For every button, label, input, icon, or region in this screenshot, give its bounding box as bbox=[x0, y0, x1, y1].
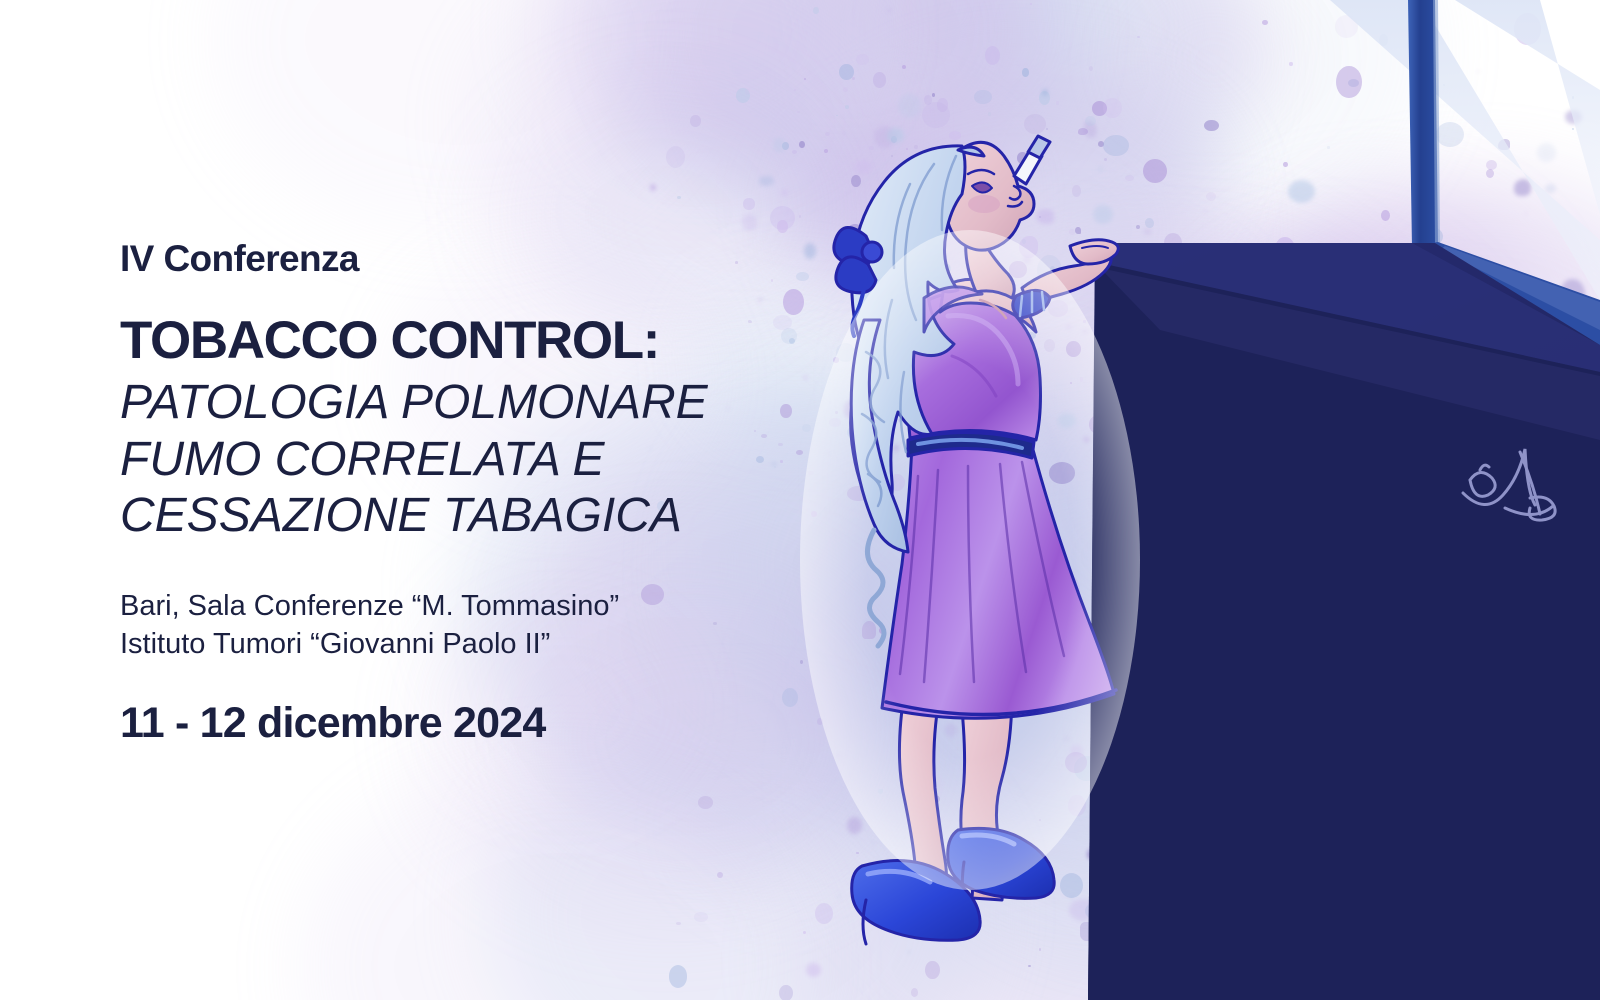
paint-dot bbox=[742, 214, 757, 231]
venue-line-2: Istituto Tumori “Giovanni Paolo II” bbox=[120, 625, 760, 663]
paint-dot bbox=[778, 443, 783, 446]
paint-dot bbox=[952, 378, 956, 381]
paint-dot bbox=[916, 375, 920, 378]
paint-dot bbox=[855, 160, 872, 174]
paint-dot bbox=[1388, 625, 1390, 627]
paint-dot bbox=[1069, 899, 1097, 920]
paint-dot bbox=[1083, 320, 1086, 322]
paint-dot bbox=[1006, 195, 1008, 197]
paint-dot bbox=[1486, 169, 1494, 178]
paint-dot bbox=[694, 912, 707, 922]
paint-dot bbox=[799, 141, 805, 149]
paint-dot bbox=[852, 391, 861, 398]
paint-dot bbox=[1225, 769, 1228, 772]
paint-dot bbox=[1138, 721, 1141, 724]
paint-dot bbox=[1335, 15, 1358, 38]
paint-dot bbox=[1477, 810, 1488, 818]
paint-dot bbox=[1037, 255, 1062, 286]
paint-dot bbox=[1158, 931, 1161, 934]
paint-dot bbox=[1151, 372, 1154, 375]
paint-dot bbox=[1164, 233, 1182, 253]
paint-dot bbox=[1408, 389, 1418, 398]
conference-edition-label: IV Conferenza bbox=[120, 240, 760, 279]
paint-dot bbox=[1270, 648, 1273, 651]
paint-dot bbox=[1527, 625, 1539, 635]
paint-dot bbox=[1445, 838, 1453, 846]
paint-dot bbox=[906, 148, 909, 150]
paint-dot bbox=[1304, 820, 1319, 835]
paint-dot bbox=[1154, 765, 1157, 767]
paint-dot bbox=[1333, 835, 1358, 862]
paint-dot bbox=[1525, 212, 1527, 215]
paint-dot bbox=[1315, 512, 1318, 515]
paint-dot bbox=[1561, 775, 1574, 784]
paint-dot bbox=[1104, 687, 1115, 696]
paint-dot bbox=[949, 131, 961, 140]
paint-dot bbox=[1315, 683, 1329, 696]
paint-dot bbox=[1565, 110, 1582, 124]
paint-dot bbox=[891, 155, 893, 157]
paint-dot bbox=[1093, 205, 1113, 224]
paint-dot bbox=[1207, 646, 1217, 654]
paint-dot bbox=[930, 795, 940, 803]
paint-dot bbox=[1119, 128, 1121, 130]
paint-dot bbox=[1251, 910, 1276, 940]
paint-dot bbox=[1039, 819, 1041, 821]
paint-dot bbox=[1100, 240, 1115, 255]
paint-dot bbox=[1480, 356, 1493, 368]
paint-dot bbox=[952, 178, 955, 181]
paint-dot bbox=[1262, 497, 1264, 499]
paint-dot bbox=[937, 263, 951, 273]
paint-dot bbox=[856, 852, 858, 855]
paint-dot bbox=[773, 138, 785, 153]
paint-dot bbox=[984, 755, 992, 762]
paint-dot bbox=[1358, 310, 1360, 312]
paint-dot bbox=[781, 328, 797, 344]
paint-dot bbox=[1070, 613, 1076, 620]
paint-dot bbox=[1027, 332, 1036, 339]
paint-dot bbox=[1310, 319, 1316, 324]
paint-dot bbox=[1323, 706, 1348, 724]
paint-dot bbox=[1288, 180, 1315, 203]
paint-dot bbox=[1434, 804, 1452, 818]
paint-dot bbox=[971, 201, 990, 224]
paint-dot bbox=[862, 621, 876, 638]
paint-dot bbox=[1404, 648, 1414, 655]
paint-dot bbox=[1225, 602, 1227, 604]
paint-dot bbox=[1271, 509, 1279, 518]
paint-dot bbox=[1358, 909, 1363, 913]
paint-dot bbox=[1158, 419, 1168, 429]
paint-dot bbox=[783, 289, 804, 316]
poster-text-column: IV Conferenza TOBACCO CONTROL: PATOLOGIA… bbox=[120, 240, 760, 748]
paint-dot bbox=[1066, 325, 1071, 329]
paint-dot bbox=[1210, 881, 1214, 885]
paint-dot bbox=[1180, 934, 1200, 955]
paint-dot bbox=[1413, 356, 1420, 362]
paint-dot bbox=[1277, 852, 1287, 860]
paint-dot bbox=[1436, 122, 1464, 147]
paint-dot bbox=[979, 630, 987, 636]
paint-dot bbox=[1084, 437, 1089, 442]
paint-dot bbox=[1262, 20, 1268, 25]
paint-dot bbox=[1495, 591, 1504, 600]
paint-dot bbox=[888, 9, 890, 12]
paint-dot bbox=[825, 132, 830, 136]
paint-dot bbox=[1228, 623, 1243, 635]
paint-dot bbox=[945, 723, 957, 737]
paint-dot bbox=[1328, 366, 1336, 374]
paint-dot bbox=[1019, 461, 1023, 465]
paint-dot bbox=[1502, 480, 1518, 497]
paint-dot bbox=[1269, 966, 1290, 990]
paint-dot bbox=[1360, 569, 1373, 584]
paint-dot bbox=[1199, 657, 1215, 668]
paint-dot bbox=[1103, 834, 1114, 843]
paint-dot bbox=[1434, 762, 1438, 766]
paint-dot bbox=[804, 243, 816, 259]
paint-dot bbox=[1498, 139, 1510, 150]
paint-dot bbox=[933, 247, 936, 249]
paint-dot bbox=[1147, 860, 1159, 869]
paint-dot bbox=[1204, 120, 1219, 131]
paint-dot bbox=[1364, 876, 1382, 898]
paint-dot bbox=[873, 368, 876, 371]
paint-dot bbox=[1283, 162, 1287, 167]
paint-dot bbox=[836, 754, 840, 757]
paint-dot bbox=[1367, 979, 1369, 981]
paint-dot bbox=[1208, 589, 1214, 595]
paint-dot bbox=[1263, 476, 1265, 478]
paint-dot bbox=[1190, 957, 1194, 960]
paint-dot bbox=[1305, 377, 1321, 395]
paint-dot bbox=[1377, 869, 1389, 878]
paint-dot bbox=[1002, 308, 1006, 312]
paint-dot bbox=[937, 571, 940, 573]
paint-dot bbox=[780, 460, 783, 463]
paint-dot bbox=[1019, 236, 1039, 258]
paint-dot bbox=[1352, 878, 1363, 889]
paint-dot bbox=[1507, 503, 1511, 507]
paint-dot bbox=[1048, 300, 1069, 317]
paint-dot bbox=[1219, 842, 1223, 846]
paint-dot bbox=[1234, 614, 1237, 617]
paint-dot bbox=[1121, 398, 1123, 400]
paint-dot bbox=[870, 473, 894, 499]
paint-dot bbox=[1145, 218, 1154, 228]
paint-dot bbox=[781, 189, 788, 197]
paint-dot bbox=[779, 985, 793, 1000]
paint-dot bbox=[1379, 34, 1388, 46]
paint-dot bbox=[1418, 691, 1421, 693]
paint-dot bbox=[1394, 842, 1418, 873]
paint-dot bbox=[999, 386, 1002, 389]
paint-dot bbox=[1559, 869, 1561, 872]
paint-dot bbox=[1142, 976, 1162, 998]
paint-dot bbox=[1109, 478, 1111, 481]
paint-dot bbox=[868, 459, 872, 463]
paint-dot bbox=[817, 718, 823, 726]
paint-dot bbox=[1179, 924, 1181, 926]
paint-dot bbox=[676, 922, 681, 926]
paint-dot bbox=[843, 133, 845, 135]
paint-dot bbox=[1050, 550, 1063, 562]
paint-dot bbox=[1219, 581, 1233, 596]
paint-dot bbox=[1242, 597, 1246, 601]
paint-dot bbox=[1514, 179, 1531, 195]
paint-dot bbox=[1124, 632, 1141, 645]
paint-dot bbox=[1220, 741, 1234, 752]
paint-dot bbox=[879, 627, 886, 634]
paint-dot bbox=[852, 358, 869, 370]
paint-dot bbox=[1361, 734, 1372, 742]
paint-dot bbox=[897, 179, 900, 181]
paint-dot bbox=[1429, 615, 1447, 632]
paint-dot bbox=[1442, 700, 1455, 716]
paint-dot bbox=[878, 789, 883, 794]
paint-dot bbox=[1151, 461, 1166, 476]
paint-dot bbox=[874, 401, 891, 418]
paint-dot bbox=[1065, 667, 1080, 680]
paint-dot bbox=[1104, 158, 1107, 161]
paint-dot bbox=[1217, 425, 1226, 435]
paint-dot bbox=[838, 895, 840, 897]
paint-dot bbox=[1457, 292, 1463, 298]
paint-dot bbox=[996, 602, 998, 604]
paint-dot bbox=[1285, 644, 1289, 648]
paint-dot bbox=[856, 54, 868, 65]
paint-dot bbox=[1573, 506, 1575, 508]
paint-dot bbox=[1044, 339, 1055, 352]
paint-dot bbox=[994, 630, 998, 634]
paint-dot bbox=[1196, 927, 1201, 933]
paint-dot bbox=[1477, 71, 1479, 72]
paint-dot bbox=[969, 534, 975, 541]
paint-dot bbox=[836, 115, 838, 116]
paint-dot bbox=[963, 240, 975, 254]
paint-dot bbox=[1098, 167, 1103, 171]
paint-dot bbox=[1532, 890, 1558, 921]
paint-dot bbox=[942, 624, 957, 636]
paint-dot bbox=[1528, 344, 1531, 348]
paint-dot bbox=[1100, 703, 1112, 718]
paint-dot bbox=[690, 115, 700, 127]
paint-dot bbox=[743, 198, 755, 209]
paint-dot bbox=[1195, 515, 1202, 520]
paint-dot bbox=[1136, 225, 1140, 229]
paint-dot bbox=[1049, 462, 1074, 483]
paint-dot bbox=[997, 400, 1016, 417]
paint-dot bbox=[916, 440, 919, 443]
paint-dot bbox=[1013, 412, 1032, 433]
paint-dot bbox=[937, 312, 949, 321]
paint-dot bbox=[1355, 867, 1359, 872]
paint-dot bbox=[1143, 159, 1167, 183]
paint-dot bbox=[1296, 924, 1298, 926]
paint-dot bbox=[1051, 395, 1053, 397]
conference-poster: IV Conferenza TOBACCO CONTROL: PATOLOGIA… bbox=[0, 0, 1600, 1000]
paint-dot bbox=[1321, 919, 1327, 925]
paint-dot bbox=[1456, 641, 1458, 643]
paint-dot bbox=[1168, 779, 1178, 787]
paint-dot bbox=[1083, 330, 1086, 333]
paint-dot bbox=[852, 77, 855, 80]
paint-dot bbox=[1185, 500, 1190, 505]
paint-dot bbox=[1381, 813, 1389, 820]
paint-dot bbox=[1396, 972, 1404, 981]
paint-dot bbox=[1153, 300, 1163, 309]
paint-dot bbox=[1133, 335, 1142, 344]
paint-dot bbox=[1329, 805, 1343, 817]
paint-dot bbox=[1028, 965, 1031, 967]
paint-dot bbox=[794, 89, 796, 91]
paint-dot bbox=[1089, 66, 1093, 72]
paint-dot bbox=[1129, 901, 1143, 913]
paint-dot bbox=[1133, 579, 1148, 590]
paint-dot bbox=[1042, 89, 1047, 96]
paint-dot bbox=[1240, 739, 1258, 760]
paint-dot bbox=[1510, 384, 1528, 402]
paint-dot bbox=[845, 105, 849, 110]
paint-dot bbox=[777, 220, 788, 234]
paint-dot bbox=[1309, 553, 1330, 579]
subtitle-line-3: CESSAZIONE TABAGICA bbox=[120, 488, 760, 545]
paint-dot bbox=[1103, 98, 1122, 118]
paint-dot bbox=[1021, 710, 1024, 714]
paint-dot bbox=[1066, 341, 1081, 358]
paint-dot bbox=[956, 534, 960, 537]
paint-dot bbox=[1070, 382, 1072, 384]
paint-dot bbox=[1324, 746, 1327, 749]
paint-dot bbox=[1157, 668, 1182, 690]
paint-dot bbox=[997, 466, 999, 468]
paint-dot bbox=[886, 180, 888, 183]
paint-dot bbox=[954, 459, 979, 482]
paint-dot bbox=[895, 454, 898, 456]
paint-dot bbox=[916, 693, 930, 704]
paint-dot bbox=[1480, 675, 1490, 684]
paint-dot bbox=[761, 434, 767, 439]
paint-dot bbox=[1520, 838, 1522, 840]
paint-dot bbox=[844, 399, 863, 419]
paint-dot bbox=[1010, 456, 1015, 462]
paint-dot bbox=[872, 842, 874, 844]
paint-dot bbox=[1005, 177, 1010, 181]
paint-dot bbox=[1113, 943, 1117, 947]
paint-dot bbox=[1046, 128, 1048, 130]
paint-dot bbox=[1466, 953, 1471, 958]
paint-dot bbox=[1560, 279, 1584, 309]
paint-dot bbox=[1165, 635, 1168, 639]
paint-dot bbox=[1280, 762, 1285, 766]
paint-dot bbox=[1160, 856, 1170, 865]
paint-dot bbox=[1021, 283, 1023, 285]
paint-dot bbox=[893, 445, 899, 452]
paint-dot bbox=[1509, 444, 1512, 447]
paint-dot bbox=[773, 315, 792, 330]
paint-dot bbox=[1423, 852, 1427, 856]
paint-dot bbox=[1306, 960, 1310, 965]
paint-dot bbox=[1137, 36, 1139, 38]
paint-dot bbox=[813, 7, 819, 15]
paint-dot bbox=[1144, 843, 1148, 846]
paint-dot bbox=[847, 486, 870, 502]
paint-dot bbox=[1572, 128, 1574, 130]
paint-dot bbox=[1030, 3, 1033, 5]
paint-dot bbox=[1422, 780, 1427, 785]
paint-dot bbox=[1221, 608, 1225, 611]
paint-dot bbox=[717, 872, 723, 878]
paint-dot bbox=[1295, 842, 1297, 845]
paint-dot bbox=[806, 963, 821, 977]
paint-dot bbox=[1024, 114, 1046, 134]
paint-dot bbox=[1500, 843, 1528, 871]
paint-dot bbox=[1276, 795, 1280, 800]
paint-dot bbox=[1221, 726, 1223, 728]
paint-dot bbox=[1094, 883, 1096, 886]
subtitle-line-2: FUMO CORRELATA E bbox=[120, 432, 760, 489]
paint-dot bbox=[1336, 66, 1362, 99]
paint-dot bbox=[1335, 884, 1355, 898]
paint-dot bbox=[792, 150, 797, 154]
paint-dot bbox=[985, 46, 1000, 65]
paint-dot bbox=[1453, 584, 1462, 592]
paint-dot bbox=[1201, 817, 1204, 821]
paint-dot bbox=[1122, 974, 1137, 989]
paint-dot bbox=[1080, 377, 1084, 382]
paint-dot bbox=[923, 315, 928, 319]
paint-dot bbox=[1179, 831, 1205, 861]
paint-dot bbox=[650, 184, 656, 191]
paint-dot bbox=[1123, 293, 1144, 309]
paint-dot bbox=[1289, 62, 1292, 65]
paint-dot bbox=[977, 324, 1000, 342]
venue-info: Bari, Sala Conferenze “M. Tommasino”Isti… bbox=[120, 587, 760, 664]
paint-dot bbox=[1017, 432, 1020, 434]
paint-dot bbox=[1471, 646, 1473, 648]
paint-dot bbox=[804, 78, 806, 80]
paint-dot bbox=[1180, 779, 1183, 783]
paint-dot bbox=[1541, 536, 1547, 541]
paint-dot bbox=[1486, 160, 1497, 170]
paint-dot bbox=[902, 65, 906, 69]
paint-dot bbox=[1385, 0, 1387, 2]
paint-dot bbox=[1244, 609, 1255, 622]
paint-dot bbox=[1342, 899, 1344, 901]
paint-dot bbox=[1172, 649, 1194, 666]
paint-dot bbox=[922, 102, 949, 128]
paint-dot bbox=[1145, 821, 1171, 844]
paint-dot bbox=[919, 385, 922, 389]
paint-dot bbox=[797, 111, 799, 113]
paint-dot bbox=[847, 426, 862, 439]
paint-dot bbox=[828, 452, 830, 454]
paint-dot bbox=[1080, 922, 1098, 941]
paint-dot bbox=[917, 202, 943, 226]
paint-dot bbox=[1496, 803, 1503, 809]
paint-dot bbox=[1477, 315, 1487, 324]
paint-dot bbox=[829, 418, 841, 427]
paint-dot bbox=[1144, 229, 1150, 235]
paint-dot bbox=[949, 280, 951, 281]
paint-dot bbox=[677, 196, 681, 199]
paint-dot bbox=[1381, 210, 1390, 221]
paint-dot bbox=[887, 128, 903, 143]
paint-dot bbox=[1316, 962, 1318, 964]
paint-dot bbox=[1354, 374, 1364, 383]
paint-dot bbox=[898, 551, 900, 553]
